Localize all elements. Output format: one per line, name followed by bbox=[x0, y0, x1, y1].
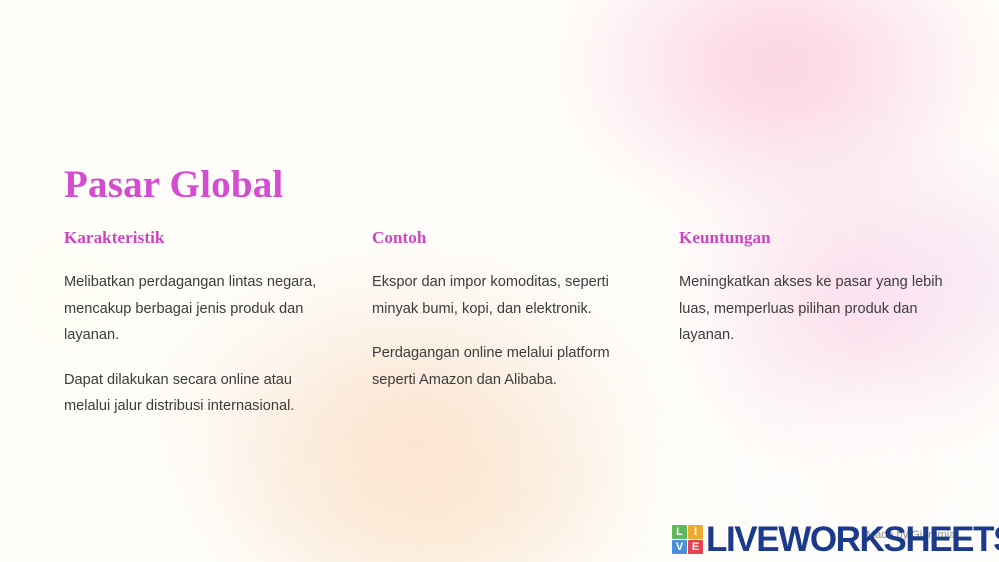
column-paragraph: Melibatkan perdagangan lintas negara, me… bbox=[64, 269, 336, 349]
badge-letter-l: L bbox=[672, 525, 687, 539]
liveworksheets-wordmark: LIVEWORKSHEETS bbox=[706, 522, 999, 557]
column-paragraph: Dapat dilakukan secara online atau melal… bbox=[64, 367, 336, 420]
column-heading: Contoh bbox=[372, 228, 634, 248]
column-paragraph: Perdagangan online melalui platform sepe… bbox=[372, 340, 634, 393]
slide-canvas: Pasar Global Karakteristik Melibatkan pe… bbox=[0, 0, 999, 562]
column-karakteristik: Karakteristik Melibatkan perdagangan lin… bbox=[64, 228, 336, 420]
page-title: Pasar Global bbox=[64, 162, 283, 207]
liveworksheets-watermark: L I V E LIVEWORKSHEETS bbox=[672, 518, 999, 560]
badge-letter-e: E bbox=[688, 540, 703, 554]
column-contoh: Contoh Ekspor dan impor komoditas, seper… bbox=[372, 228, 634, 393]
column-heading: Keuntungan bbox=[679, 228, 947, 248]
badge-letter-i: I bbox=[688, 525, 703, 539]
column-keuntungan: Keuntungan Meningkatkan akses ke pasar y… bbox=[679, 228, 947, 349]
column-paragraph: Meningkatkan akses ke pasar yang lebih l… bbox=[679, 269, 947, 349]
liveworksheets-logo-icon: L I V E bbox=[672, 525, 703, 554]
badge-letter-v: V bbox=[672, 540, 687, 554]
column-heading: Karakteristik bbox=[64, 228, 336, 248]
slide-content: Pasar Global Karakteristik Melibatkan pe… bbox=[0, 0, 999, 562]
column-paragraph: Ekspor dan impor komoditas, seperti miny… bbox=[372, 269, 634, 322]
